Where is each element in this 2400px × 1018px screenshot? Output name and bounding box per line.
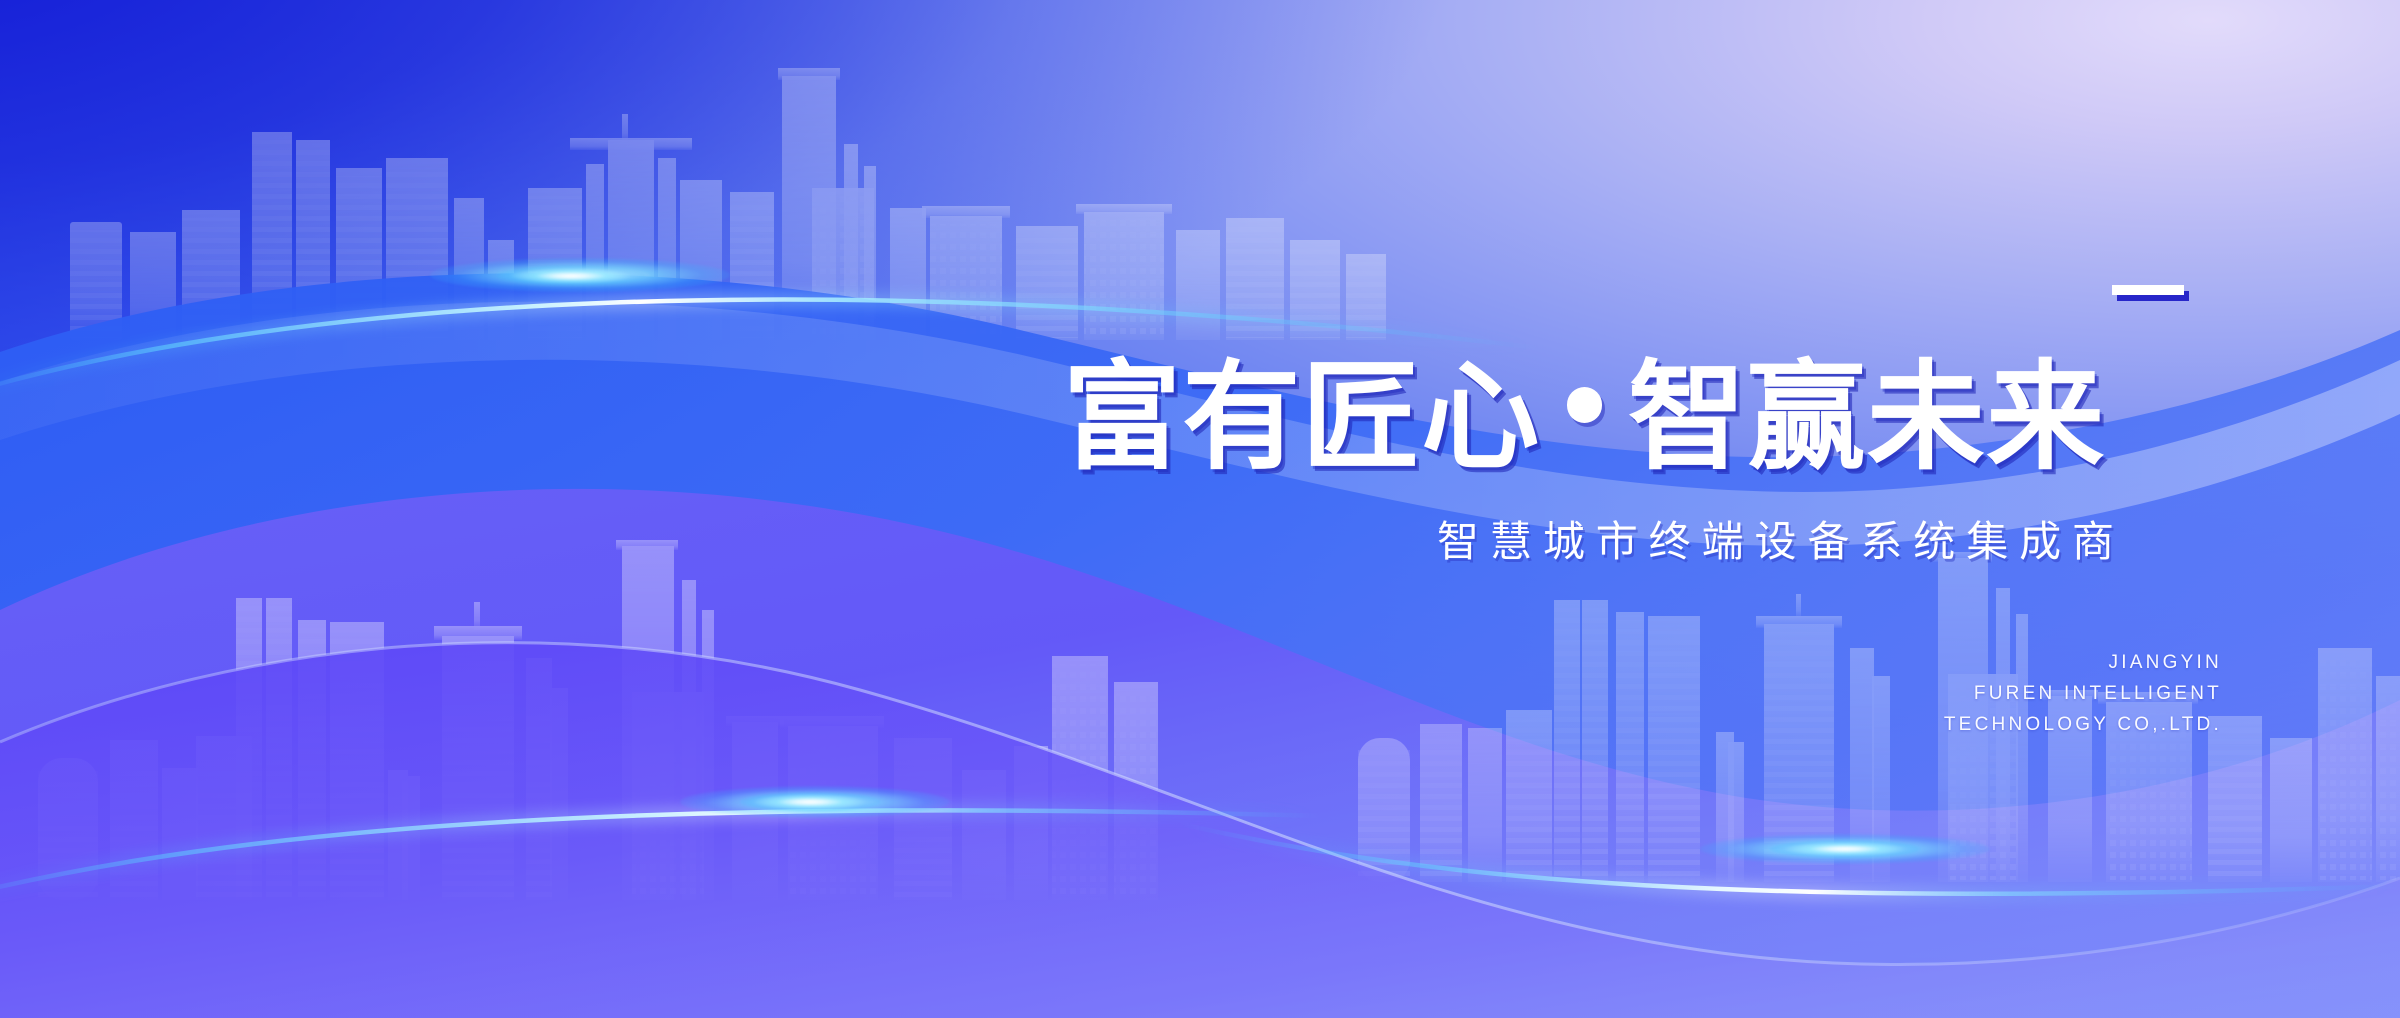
company-en-line-3: TECHNOLOGY CO,.LTD. [1944, 710, 2222, 741]
banner-title: 富有匠心智赢未来 [1063, 352, 2106, 484]
company-name-en: JIANGYIN FUREN INTELLIGENT TECHNOLOGY CO… [1944, 648, 2222, 740]
title-part-1: 富有匠心 [1063, 352, 1541, 484]
company-en-line-2: FUREN INTELLIGENT [1944, 679, 2222, 710]
company-en-line-1: JIANGYIN [1944, 648, 2222, 679]
banner-canvas: 富有匠心智赢未来 智慧城市终端设备系统集成商 JIANGYIN FUREN IN… [0, 0, 2400, 1018]
accent-dash [2112, 285, 2184, 295]
title-separator-dot [1567, 387, 1602, 422]
title-part-2: 智赢未来 [1628, 352, 2106, 484]
banner-subtitle: 智慧城市终端设备系统集成商 [1437, 508, 2125, 569]
